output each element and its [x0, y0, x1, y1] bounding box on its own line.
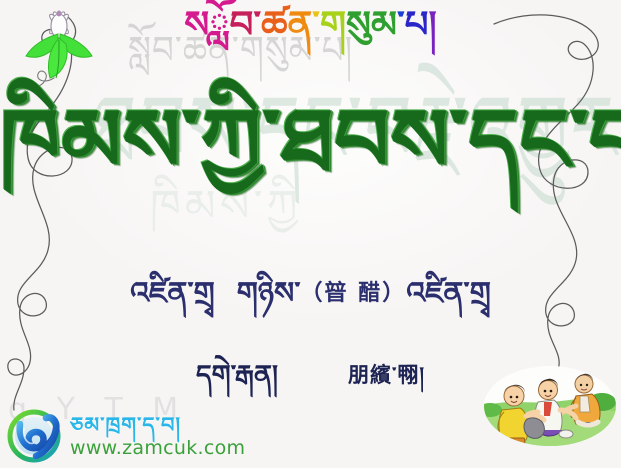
- class-number: གཉིས༌: [237, 276, 301, 311]
- heading-glyph: ་: [253, 4, 261, 45]
- brand-tibetan-name: ཅམ་ཁྲག་ད་བ།: [70, 415, 245, 436]
- brand-logo[interactable]: ཅམ་ཁྲག་ད་བ། www.zamcuk.com: [6, 408, 245, 464]
- heading-glyph: །: [428, 4, 436, 45]
- brand-text-block: ཅམ་ཁྲག་ད་བ། www.zamcuk.com: [70, 415, 245, 458]
- main-title: ཁིམས་ཀྱི་ཐབས་དང་བརྗེ་འགྱུར།: [0, 88, 621, 196]
- zamcuk-swoosh-logo-icon: [6, 408, 68, 464]
- brand-url[interactable]: www.zamcuk.com: [70, 439, 245, 458]
- heading-glyph: ན: [287, 4, 312, 45]
- class-label-left: འཛིན་གྲྭ: [130, 276, 215, 311]
- children-illustration-icon: [480, 354, 620, 446]
- class-label-right: འཛིན་གྲྭ: [406, 276, 491, 311]
- heading-glyph: མ: [371, 4, 397, 45]
- class-paren-text: 暜 醋: [325, 281, 383, 306]
- heading-glyph: ས: [184, 4, 209, 45]
- heading-glyph: ློ: [209, 4, 229, 45]
- slide-canvas: སློབ་ཚན་གསུམ་པ། ཐབས་དང་བརྗེ་འགྱུར། ཁིམས་…: [0, 0, 621, 468]
- class-paren-open: （: [301, 281, 325, 306]
- slide-heading: སློབ་ཚན་གསུམ་པ།: [0, 4, 621, 45]
- teacher-label: དགེ་རྒན།: [196, 360, 278, 391]
- class-paren-close: ）: [382, 281, 406, 306]
- teacher-name: 朋繽༌翈།: [348, 363, 425, 387]
- heading-glyph: ་: [312, 4, 320, 45]
- heading-glyph: པ: [405, 4, 429, 45]
- heading-glyph: བ: [230, 4, 254, 45]
- heading-glyph: སུ: [346, 4, 371, 45]
- class-line: འཛིན་གྲྭགཉིས༌（暜 醋）འཛིན་གྲྭ: [0, 276, 621, 312]
- left-vine-decoration: [0, 0, 126, 420]
- heading-glyph: ་: [397, 4, 405, 45]
- heading-glyph: ག: [320, 4, 346, 45]
- heading-glyph: ཚ: [261, 4, 287, 45]
